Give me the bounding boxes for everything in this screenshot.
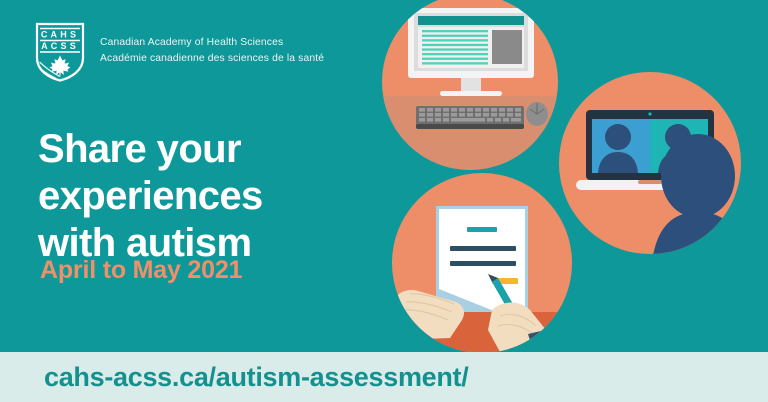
svg-text:CAHS: CAHS <box>41 30 79 40</box>
svg-text:ACSS: ACSS <box>41 41 79 51</box>
circle-desktop-computer <box>370 0 590 176</box>
logo-wordmark: Canadian Academy of Health Sciences Acad… <box>100 35 324 67</box>
campaign-url[interactable]: cahs-acss.ca/autism-assessment/ <box>44 362 468 393</box>
cahs-logo[interactable]: CAHS ACSS Canadian Academy of Health Sci… <box>34 22 324 82</box>
illustration <box>370 0 768 352</box>
circle-video-call <box>559 72 748 270</box>
headline: Share your experiences with autism <box>38 126 263 266</box>
cahs-shield-icon: CAHS ACSS <box>34 22 86 82</box>
logo-line-english: Canadian Academy of Health Sciences <box>100 35 324 51</box>
campaign-poster: CAHS ACSS Canadian Academy of Health Sci… <box>0 0 768 402</box>
url-bar: cahs-acss.ca/autism-assessment/ <box>0 352 768 402</box>
logo-line-french: Académie canadienne des sciences de la s… <box>100 51 324 67</box>
circle-form-filling <box>376 173 590 352</box>
headline-line-1: Share your <box>38 126 263 173</box>
campaign-dates: April to May 2021 <box>40 256 242 285</box>
headline-line-2: experiences <box>38 173 263 220</box>
